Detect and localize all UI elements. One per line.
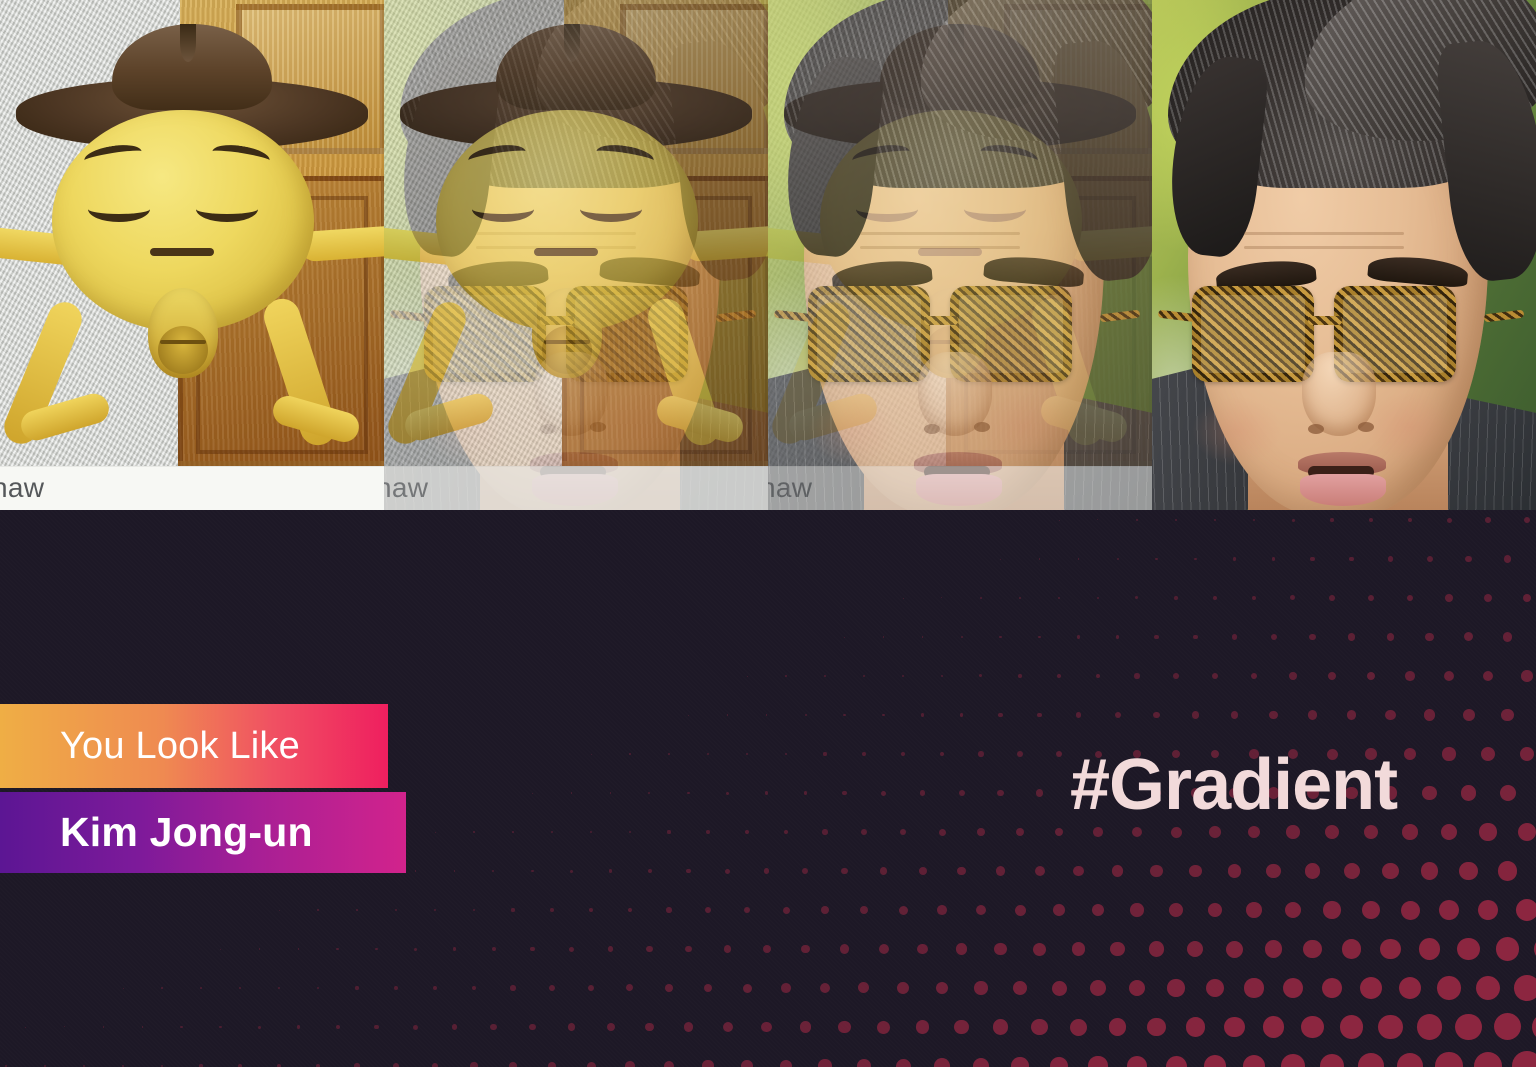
halftone-dot: [354, 1063, 359, 1067]
halftone-dot: [1523, 594, 1532, 603]
morph-frame-1[interactable]: haw: [0, 0, 384, 510]
halftone-dot: [1380, 939, 1401, 960]
halftone-dot: [1155, 558, 1157, 560]
halftone-dot: [727, 714, 728, 715]
halftone-dot: [979, 674, 982, 677]
halftone-dot: [180, 1026, 182, 1028]
halftone-dot: [1347, 710, 1357, 720]
halftone-dot: [512, 831, 514, 833]
halftone-dot: [1076, 712, 1082, 718]
halftone-dot: [900, 829, 906, 835]
caption-text: haw: [0, 472, 44, 504]
halftone-dot: [1194, 558, 1197, 561]
halftone-dot: [1090, 980, 1106, 996]
halftone-dot: [1496, 937, 1519, 960]
lens-left: [40, 286, 162, 382]
halftone-dot: [472, 986, 477, 991]
halftone-dot: [957, 867, 966, 876]
halftone-dot: [1136, 519, 1137, 520]
halftone-dot: [824, 675, 826, 677]
screenshot-caption-bar: haw: [0, 466, 384, 510]
halftone-dot: [64, 1026, 65, 1027]
halftone-dot: [626, 984, 633, 991]
forehead-crease-2: [860, 246, 1020, 249]
halftone-dot: [1397, 1053, 1424, 1067]
halftone-dot: [877, 1021, 890, 1034]
halftone-dot: [1362, 901, 1380, 919]
halftone-dot: [433, 986, 437, 990]
halftone-dot: [1503, 632, 1513, 642]
halftone-dot: [551, 831, 553, 833]
halftone-dot: [1209, 826, 1221, 838]
caption-text: haw: [768, 472, 812, 504]
halftone-dot: [5, 1065, 6, 1066]
halftone-dot: [1281, 1054, 1305, 1067]
halftone-dot: [1017, 751, 1023, 757]
face-morph-strip: haw: [0, 0, 1536, 510]
match-name-banner: Kim Jong-un: [0, 792, 406, 873]
halftone-dot: [1251, 673, 1258, 680]
halftone-dot: [1116, 635, 1120, 639]
halftone-dot: [1310, 557, 1314, 561]
morph-frame-4[interactable]: [1152, 0, 1536, 510]
halftone-dot: [1518, 823, 1536, 841]
halftone-dot: [1173, 673, 1179, 679]
halftone-dot: [1388, 556, 1393, 561]
halftone-dot: [1483, 671, 1494, 682]
halftone-dot: [1059, 520, 1060, 521]
halftone-dot: [702, 1060, 713, 1067]
halftone-dot: [1244, 978, 1263, 997]
cheek-left: [808, 396, 898, 466]
halftone-dot: [1421, 862, 1439, 880]
glasses-bridge: [156, 316, 190, 325]
halftone-dot: [954, 1020, 969, 1035]
halftone-dot: [1439, 900, 1459, 920]
halftone-dot: [899, 906, 908, 915]
halftone-dot: [646, 946, 652, 952]
halftone-dot: [1246, 902, 1262, 918]
halftone-dot: [1485, 517, 1491, 523]
halftone-dot: [1187, 941, 1203, 957]
halftone-dot: [588, 985, 595, 992]
halftone-dot: [259, 948, 260, 949]
halftone-dot: [743, 984, 752, 993]
nostril-left: [540, 424, 556, 434]
halftone-dot: [1435, 1052, 1463, 1067]
halftone-dot: [509, 1062, 517, 1067]
screenshot-caption-bar: haw: [384, 466, 768, 510]
app-watermark: #Gradient: [1070, 744, 1397, 826]
halftone-dot: [1322, 978, 1343, 999]
halftone-dot: [1018, 674, 1022, 678]
halftone-dot: [490, 1024, 496, 1030]
halftone-dot: [823, 752, 826, 755]
halftone-dot: [1016, 828, 1024, 836]
halftone-dot: [258, 1026, 261, 1029]
halftone-dot: [1405, 671, 1415, 681]
halftone-dot: [393, 1063, 399, 1067]
halftone-dot: [858, 982, 869, 993]
halftone-dot: [818, 1059, 831, 1067]
halftone-dot: [570, 870, 573, 873]
nostril-left: [1308, 424, 1324, 434]
halftone-dot: [1109, 1018, 1127, 1036]
halftone-dot: [629, 831, 632, 834]
halftone-dot: [1378, 1015, 1402, 1039]
halftone-dot: [784, 830, 789, 835]
halftone-dot: [861, 829, 867, 835]
halftone-dot: [473, 909, 476, 912]
halftone-dot: [1465, 556, 1472, 563]
halftone-dot: [997, 790, 1004, 797]
lens-left: [808, 286, 930, 382]
halftone-dot: [1344, 863, 1360, 879]
match-name-text: Kim Jong-un: [60, 809, 313, 856]
halftone-dot: [937, 905, 947, 915]
halftone-dot: [1092, 904, 1105, 917]
halftone-dot: [1286, 825, 1299, 838]
halftone-dot: [863, 675, 865, 677]
halftone-dot: [1320, 1054, 1345, 1067]
halftone-dot: [1031, 1019, 1047, 1035]
cheek-right: [596, 392, 686, 462]
nostril-left: [156, 424, 172, 434]
prompt-label-text: You Look Like: [60, 725, 300, 768]
halftone-dot: [896, 1059, 911, 1067]
halftone-dot: [1422, 786, 1436, 800]
halftone-dot: [1285, 902, 1302, 919]
halftone-dot: [1271, 634, 1277, 640]
halftone-dot: [297, 1025, 301, 1029]
halftone-dot: [1419, 938, 1440, 959]
halftone-dot: [1498, 861, 1518, 881]
nostril-right: [974, 422, 990, 432]
halftone-dot: [1484, 594, 1492, 602]
halftone-dot: [648, 869, 652, 873]
halftone-dot: [1186, 1017, 1206, 1037]
halftone-dot: [298, 948, 300, 950]
halftone-dot: [747, 676, 748, 677]
halftone-dot: [976, 905, 986, 915]
halftone-dot: [1305, 863, 1320, 878]
halftone-dot: [783, 907, 790, 914]
halftone-dot: [860, 906, 868, 914]
halftone-dot: [1097, 519, 1098, 520]
halftone-dot: [1193, 635, 1198, 640]
halftone-dot: [1464, 632, 1473, 641]
halftone-dot: [939, 829, 946, 836]
halftone-dot: [1407, 595, 1414, 602]
halftone-dot: [840, 944, 849, 953]
halftone-dot: [432, 1063, 439, 1067]
halftone-dot: [998, 713, 1002, 717]
halftone-dot: [785, 753, 788, 756]
halftone-dot: [781, 983, 791, 993]
halftone-dot: [974, 981, 987, 994]
halftone-dot: [1289, 672, 1297, 680]
halftone-dot: [1035, 866, 1045, 876]
halftone-dot: [25, 1027, 26, 1028]
halftone-dot: [219, 1026, 222, 1029]
halftone-dot: [1169, 903, 1183, 917]
halftone-dot: [1512, 1051, 1536, 1067]
halftone-dot: [668, 753, 670, 755]
forehead-crease-1: [1244, 232, 1404, 235]
halftone-dot: [1110, 942, 1125, 957]
halftone-dot: [1112, 865, 1123, 876]
halftone-dot: [492, 870, 494, 872]
halftone-dot: [1088, 1056, 1107, 1067]
halftone-dot: [1097, 597, 1100, 600]
lens-left: [424, 286, 546, 382]
nostril-left: [924, 424, 940, 434]
halftone-dot: [1070, 1019, 1087, 1036]
halftone-dot: [1424, 709, 1435, 720]
halftone-dot: [936, 982, 949, 995]
screenshot-caption-bar: haw: [768, 466, 1152, 510]
halftone-dot: [1174, 596, 1178, 600]
halftone-dot: [707, 753, 709, 755]
caption-text: haw: [384, 472, 428, 504]
forehead-crease-1: [476, 232, 636, 235]
halftone-dot: [1404, 748, 1416, 760]
halftone-dot: [1037, 713, 1042, 718]
halftone-dot: [1226, 941, 1243, 958]
prompt-label-banner: You Look Like: [0, 704, 388, 788]
halftone-dot: [609, 869, 613, 873]
halftone-dot: [973, 1058, 990, 1067]
morph-frame-3[interactable]: haw: [768, 0, 1152, 510]
halftone-dot: [1329, 595, 1335, 601]
halftone-dot: [1481, 747, 1495, 761]
halftone-dot: [1272, 557, 1276, 561]
halftone-dot: [336, 1025, 340, 1029]
halftone-dot: [763, 945, 771, 953]
halftone-dot: [1461, 785, 1476, 800]
halftone-dot: [473, 831, 474, 832]
halftone-dot: [1036, 789, 1043, 796]
glasses-bridge: [924, 316, 958, 325]
halftone-dot: [804, 791, 808, 795]
halftone-dot: [897, 982, 909, 994]
halftone-dot: [841, 868, 848, 875]
halftone-dot: [1479, 823, 1496, 840]
halftone-dot: [629, 753, 630, 754]
halftone-dot: [805, 714, 807, 716]
halftone-dot: [1500, 785, 1516, 801]
halftone-dot: [1096, 674, 1101, 679]
cheek-left: [40, 396, 130, 466]
halftone-dot: [1358, 1053, 1384, 1067]
halftone-dot: [1325, 825, 1339, 839]
halftone-dot: [882, 714, 885, 717]
halftone-dot: [395, 909, 397, 911]
nostril-right: [206, 422, 222, 432]
halftone-dot: [279, 910, 280, 911]
halftone-dot: [996, 866, 1005, 875]
halftone-dot: [645, 1023, 654, 1032]
halftone-dot: [610, 792, 612, 794]
halftone-dot: [956, 943, 968, 955]
halftone-dot: [142, 1026, 144, 1028]
halftone-dot: [1532, 1013, 1536, 1041]
halftone-dot: [726, 792, 729, 795]
halftone-dot: [1328, 672, 1336, 680]
halftone-dot: [454, 870, 456, 872]
halftone-dot: [1303, 940, 1322, 959]
halftone-dot: [1369, 518, 1373, 522]
halftone-dot: [1134, 673, 1139, 678]
halftone-dot: [842, 791, 846, 795]
forehead-crease-1: [860, 232, 1020, 235]
halftone-dot: [880, 867, 887, 874]
halftone-dot: [1444, 671, 1454, 681]
halftone-dot: [1476, 976, 1501, 1001]
halftone-dot: [278, 987, 280, 989]
halftone-dot: [685, 946, 692, 953]
halftone-dot: [1478, 900, 1499, 921]
halftone-dot: [1019, 597, 1021, 599]
halftone-dot: [1514, 975, 1536, 1001]
lens-left: [1192, 286, 1314, 382]
halftone-dot: [706, 830, 710, 834]
halftone-dot: [1368, 595, 1374, 601]
halftone-dot: [532, 793, 533, 794]
halftone-dot: [1153, 712, 1160, 719]
halftone-dot: [591, 754, 592, 755]
halftone-dot: [1013, 981, 1027, 995]
halftone-dot: [316, 1064, 321, 1067]
halftone-dot: [530, 947, 535, 952]
morph-frame-2[interactable]: haw: [384, 0, 768, 510]
halftone-dot: [434, 909, 436, 911]
halftone-dot: [1364, 825, 1379, 840]
halftone-dot: [1171, 827, 1182, 838]
halftone-dot: [413, 1025, 418, 1030]
halftone-dot: [569, 947, 574, 952]
halftone-dot: [978, 751, 983, 756]
halftone-dot: [1166, 1056, 1187, 1067]
halftone-dot: [1072, 942, 1086, 956]
halftone-dot: [704, 984, 712, 992]
halftone-dot: [1206, 979, 1224, 997]
halftone-dot: [123, 988, 124, 989]
halftone-dot: [917, 944, 928, 955]
forehead-crease-1: [92, 232, 252, 235]
halftone-dot: [1192, 711, 1199, 718]
halftone-dot: [375, 948, 378, 951]
halftone-dot: [356, 909, 358, 911]
halftone-dot: [1442, 747, 1455, 760]
halftone-dot: [1127, 1056, 1147, 1067]
halftone-dot: [452, 1024, 458, 1030]
halftone-dot: [1516, 899, 1536, 921]
halftone-dot: [1038, 636, 1041, 639]
halftone-dot: [838, 1021, 850, 1033]
halftone-dot: [1252, 596, 1257, 601]
halftone-dot: [607, 1023, 615, 1031]
halftone-dot: [684, 1022, 693, 1031]
halftone-dot: [961, 636, 963, 638]
halftone-dot: [511, 908, 514, 911]
halftone-dot: [934, 1058, 950, 1067]
cheek-right: [980, 392, 1070, 462]
halftone-dot: [940, 752, 945, 757]
halftone-dot: [667, 830, 670, 833]
halftone-dot: [453, 947, 457, 951]
halftone-dot: [1078, 558, 1080, 560]
halftone-dot: [1204, 1055, 1226, 1067]
halftone-dot: [336, 948, 338, 950]
halftone-dot: [705, 907, 711, 913]
halftone-dot: [1000, 559, 1001, 560]
halftone-dot: [1265, 940, 1283, 958]
halftone-dot: [1073, 866, 1084, 877]
halftone-dot: [879, 944, 889, 954]
halftone-dot: [903, 598, 904, 599]
halftone-dot: [1231, 711, 1239, 719]
halftone-dot: [1053, 904, 1065, 916]
halftone-dot: [394, 986, 398, 990]
halftone-dot: [1330, 518, 1334, 522]
halftone-dot: [1520, 747, 1535, 762]
cheek-right: [1364, 392, 1454, 462]
halftone-dot: [1401, 901, 1420, 920]
halftone-dot: [1457, 938, 1479, 960]
halftone-dot: [1130, 903, 1143, 916]
halftone-dot: [688, 715, 689, 716]
halftone-dot: [941, 597, 942, 598]
halftone-dot: [590, 831, 592, 833]
halftone-dot: [1175, 519, 1177, 521]
halftone-dot: [800, 1021, 812, 1033]
halftone-dot: [1524, 517, 1530, 523]
halftone-dot: [1441, 824, 1458, 841]
halftone-dot: [435, 832, 436, 833]
halftone-dot: [549, 985, 555, 991]
halftone-dot: [741, 1060, 753, 1067]
halftone-dot: [1058, 597, 1060, 599]
halftone-dot: [822, 829, 827, 834]
halftone-dot: [317, 987, 320, 990]
halftone-dot: [744, 907, 751, 914]
halftone-dot: [666, 907, 671, 912]
halftone-dot: [801, 945, 810, 954]
halftone-dot: [415, 870, 416, 871]
halftone-dot: [1233, 557, 1236, 560]
halftone-dot: [761, 1022, 772, 1033]
halftone-dot: [1445, 594, 1453, 602]
halftone-dot: [550, 908, 554, 912]
halftone-dot: [764, 868, 770, 874]
halftone-dot: [993, 1019, 1008, 1034]
halftone-dot: [922, 636, 924, 638]
halftone-dot: [687, 792, 690, 795]
halftone-dot: [1253, 519, 1256, 522]
halftone-dot: [161, 987, 162, 988]
halftone-dot: [1342, 939, 1362, 959]
halftone-dot: [1417, 1014, 1442, 1039]
halftone-dot: [960, 713, 964, 717]
halftone-dot: [1248, 826, 1261, 839]
halftone-dot: [1348, 633, 1355, 640]
halftone-dot: [1129, 980, 1146, 997]
halftone-dot: [725, 869, 730, 874]
target-face-image: [384, 0, 768, 510]
halftone-dot: [1055, 828, 1064, 837]
halftone-dot: [766, 714, 768, 716]
